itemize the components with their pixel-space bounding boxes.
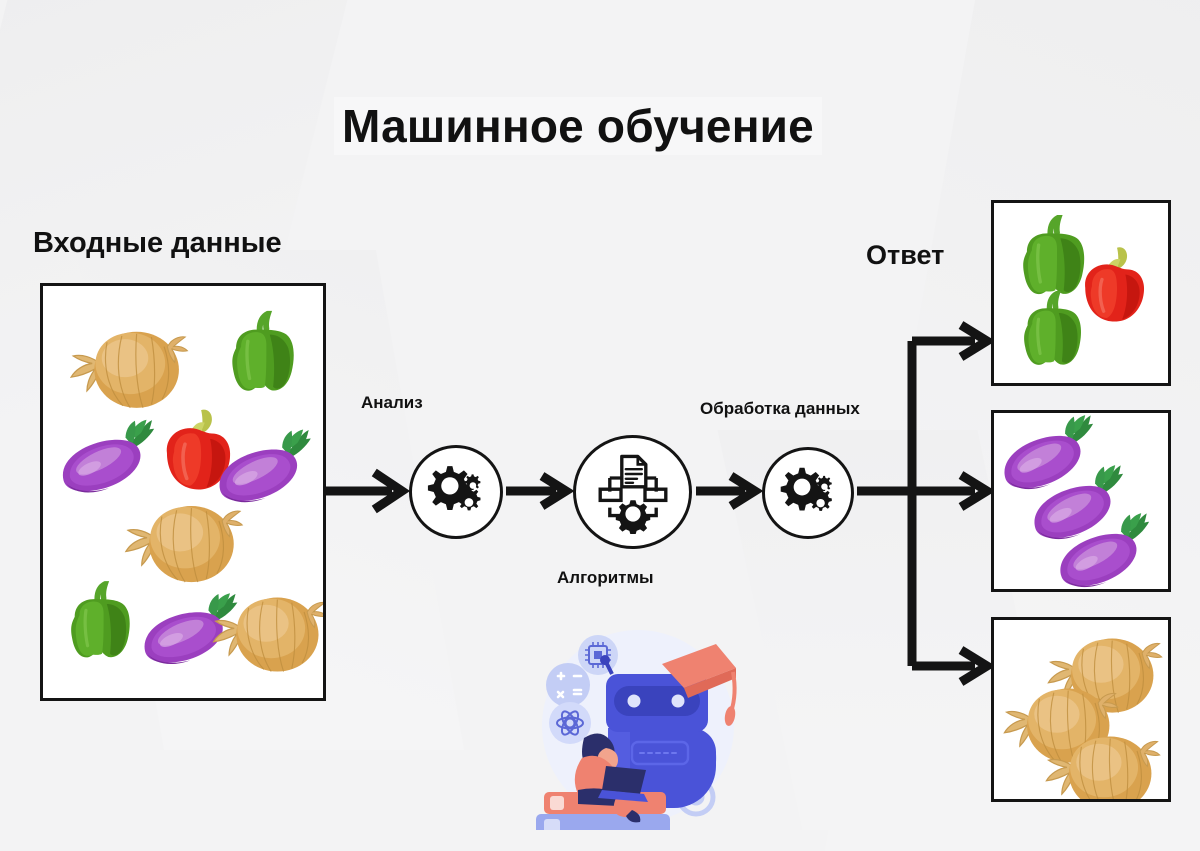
page-title: Машинное обучение xyxy=(334,97,822,155)
gears-icon xyxy=(420,456,492,528)
veg-onion-1 xyxy=(71,332,187,408)
veg-red-pepper xyxy=(1085,247,1144,321)
robot-eye-right xyxy=(672,695,685,708)
input-data-panel[interactable] xyxy=(40,283,326,701)
output-vegetables-eggplants xyxy=(994,413,1168,589)
step-icon-processing[interactable] xyxy=(762,447,854,539)
output-panel-eggplants[interactable] xyxy=(991,410,1171,592)
veg-green-pepper xyxy=(1024,293,1081,364)
diagram-stage: Машинное обучение Входные данные Ответ А… xyxy=(0,0,1200,851)
veg-eggplant-1 xyxy=(54,417,166,499)
math-symbols-icon xyxy=(546,663,590,707)
step-icon-analysis[interactable] xyxy=(409,445,503,539)
veg-green-pepper xyxy=(1023,218,1084,295)
output-panel-onions[interactable] xyxy=(991,617,1171,802)
veg-onion-2 xyxy=(126,506,242,582)
veg-green-pepper-1 xyxy=(232,314,293,391)
input-vegetables xyxy=(43,286,323,698)
branching-arrow-icon xyxy=(857,341,975,666)
robot-eye-left xyxy=(628,695,641,708)
step-label-algorithms: Алгоритмы xyxy=(557,568,654,588)
step-label-processing: Обработка данных xyxy=(700,399,860,419)
robot-antenna xyxy=(600,655,610,665)
output-panel-peppers[interactable] xyxy=(991,200,1171,386)
output-vegetables-peppers xyxy=(994,203,1168,383)
flowchart-document-gear-icon xyxy=(589,449,677,535)
veg-red-pepper-1 xyxy=(167,410,230,490)
chip-icon xyxy=(578,635,618,675)
step-label-analysis: Анализ xyxy=(361,393,423,413)
input-panel-label: Входные данные xyxy=(33,227,282,260)
veg-eggplant xyxy=(994,413,1106,496)
gears-icon xyxy=(773,458,843,528)
answer-label: Ответ xyxy=(866,240,944,271)
robot-student-illustration xyxy=(520,622,740,830)
output-vegetables-onions xyxy=(994,620,1168,799)
veg-green-pepper-2 xyxy=(71,584,130,658)
laptop xyxy=(602,766,646,794)
step-icon-algorithms[interactable] xyxy=(573,435,692,549)
